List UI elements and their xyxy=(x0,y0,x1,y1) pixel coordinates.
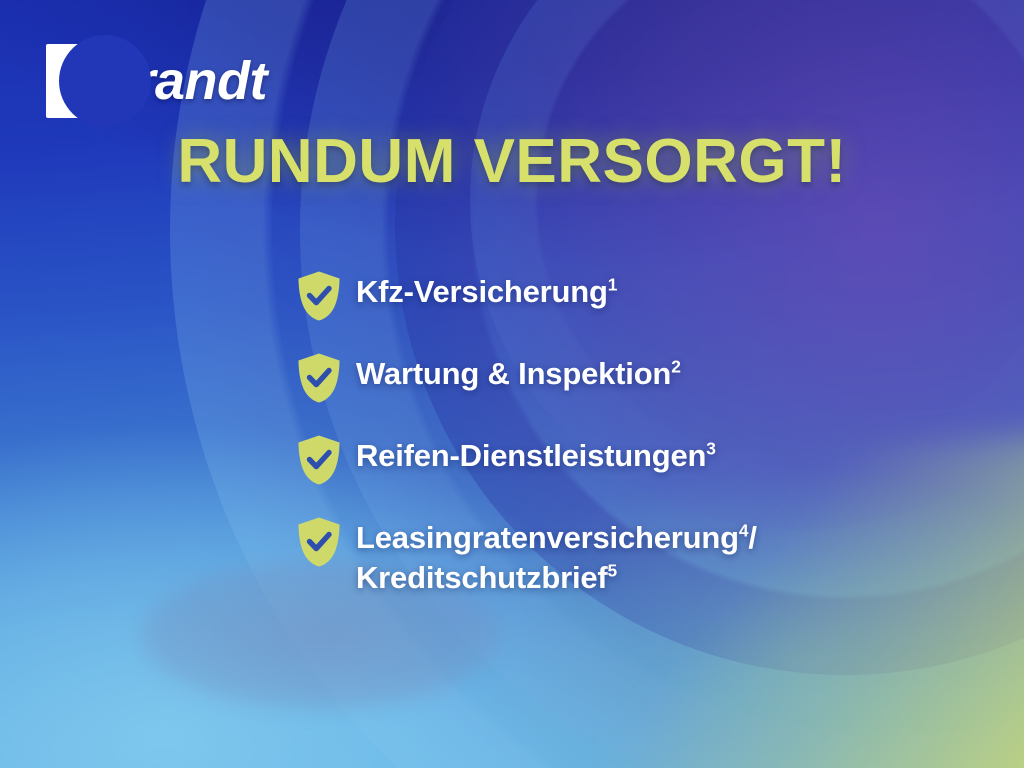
list-item-label: Wartung & Inspektion2 xyxy=(356,350,681,394)
brandt-bracket-mark-icon xyxy=(46,44,90,118)
shield-check-icon xyxy=(296,352,342,404)
list-item: Kfz-Versicherung1 xyxy=(296,268,996,322)
page-title: RUNDUM VERSORGT! xyxy=(0,131,1024,193)
logo-circular-cutout xyxy=(59,35,151,127)
list-item-label: Leasingratenversicherung4/Kreditschutzbr… xyxy=(356,514,757,597)
list-item-label: Kfz-Versicherung1 xyxy=(356,268,617,312)
content-layer: Brandt RUNDUM VERSORGT! Kfz-Versicherung… xyxy=(0,0,1024,768)
brand-logo: Brandt xyxy=(46,44,267,118)
list-item: Wartung & Inspektion2 xyxy=(296,350,996,404)
shield-check-icon xyxy=(296,516,342,568)
list-item-label: Reifen-Dienstleistungen3 xyxy=(356,432,716,476)
shield-check-icon xyxy=(296,270,342,322)
benefits-checklist: Kfz-Versicherung1 Wartung & Inspektion2 xyxy=(296,268,996,597)
list-item: Reifen-Dienstleistungen3 xyxy=(296,432,996,486)
list-item: Leasingratenversicherung4/Kreditschutzbr… xyxy=(296,514,996,597)
promo-graphic: Brandt RUNDUM VERSORGT! Kfz-Versicherung… xyxy=(0,0,1024,768)
shield-check-icon xyxy=(296,434,342,486)
